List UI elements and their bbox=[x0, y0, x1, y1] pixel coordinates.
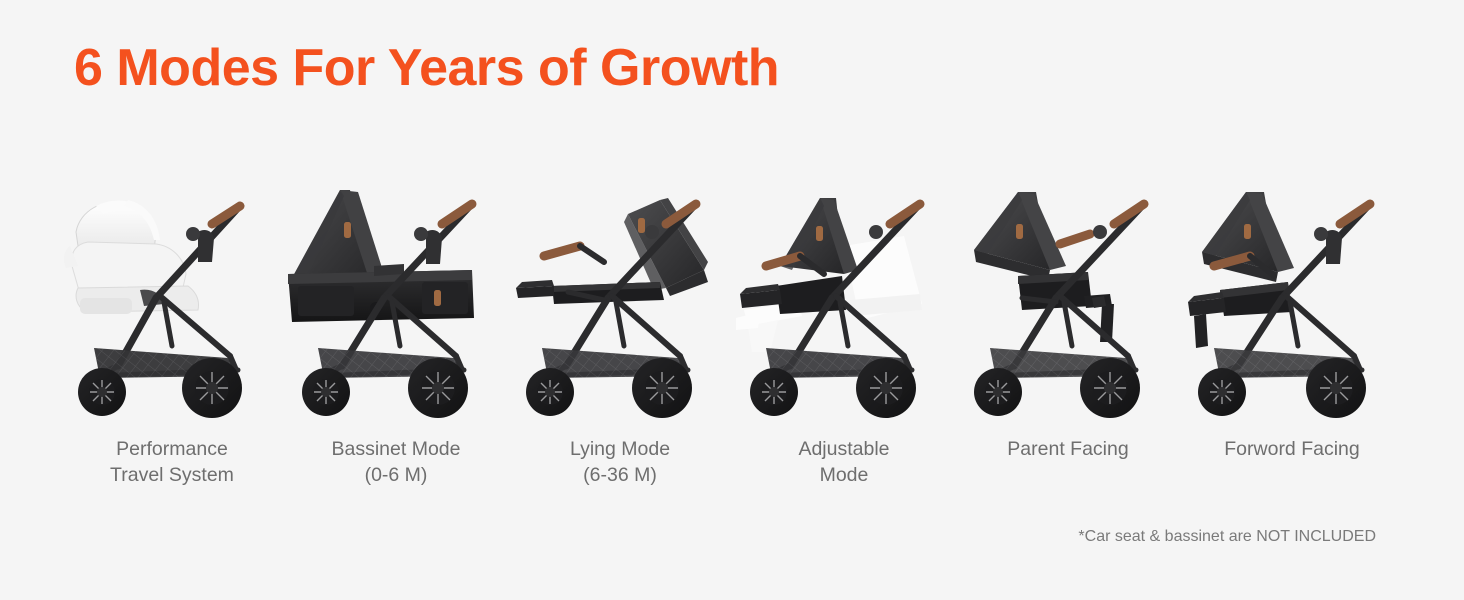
mode-item-3[interactable]: Lying Mode (6-36 M) bbox=[508, 170, 732, 510]
canopy bbox=[974, 192, 1066, 280]
front-wheel bbox=[302, 368, 350, 416]
infant-car-seat-shape bbox=[64, 200, 199, 314]
stroller-illustration-forward-facing bbox=[1180, 170, 1404, 422]
leather-tab bbox=[1016, 224, 1023, 239]
leather-tab bbox=[1244, 224, 1251, 239]
rear-wheel bbox=[182, 358, 242, 418]
leather-tab bbox=[638, 218, 645, 233]
mode-label-4: Adjustable Mode bbox=[798, 436, 889, 488]
front-wheel bbox=[526, 368, 574, 416]
frame-hinge bbox=[645, 225, 659, 239]
rear-wheel bbox=[856, 358, 916, 418]
front-wheel bbox=[974, 368, 1022, 416]
stroller-illustration-travel-system bbox=[60, 170, 284, 422]
frame-hinge bbox=[1093, 225, 1107, 239]
mode-item-1[interactable]: Performance Travel System bbox=[60, 170, 284, 510]
mode-item-6[interactable]: Forword Facing bbox=[1180, 170, 1404, 510]
leather-tab bbox=[816, 226, 823, 241]
lying-seat bbox=[516, 280, 664, 304]
rear-wheel bbox=[1306, 358, 1366, 418]
mode-label-3: Lying Mode (6-36 M) bbox=[570, 436, 670, 488]
frame-hinge bbox=[869, 225, 883, 239]
rear-wheel bbox=[632, 358, 692, 418]
mode-item-2[interactable]: Bassinet Mode (0-6 M) bbox=[284, 170, 508, 510]
front-wheel bbox=[750, 368, 798, 416]
canopy bbox=[624, 198, 708, 296]
front-wheel bbox=[1198, 368, 1246, 416]
mode-label-6: Forword Facing bbox=[1224, 436, 1359, 462]
mode-label-1: Performance Travel System bbox=[110, 436, 234, 488]
seat bbox=[1188, 282, 1292, 348]
rear-wheel bbox=[408, 358, 468, 418]
stroller-illustration-parent-facing bbox=[956, 170, 1180, 422]
rear-wheel bbox=[1080, 358, 1140, 418]
mode-label-5: Parent Facing bbox=[1007, 436, 1128, 462]
modes-row: Performance Travel System bbox=[60, 170, 1404, 510]
stroller-illustration-lying bbox=[508, 170, 732, 422]
stroller-illustration-bassinet bbox=[284, 170, 508, 422]
mode-item-4[interactable]: Adjustable Mode bbox=[732, 170, 956, 510]
bumper-bar bbox=[544, 246, 580, 256]
front-wheel bbox=[78, 368, 126, 416]
footnote-disclaimer: *Car seat & bassinet are NOT INCLUDED bbox=[1078, 528, 1376, 546]
stroller-illustration-adjustable bbox=[732, 170, 956, 422]
bassinet-hood bbox=[292, 190, 384, 280]
stroller-modes-infographic: 6 Modes For Years of Growth bbox=[0, 0, 1464, 600]
mode-label-2: Bassinet Mode (0-6 M) bbox=[332, 436, 461, 488]
page-title: 6 Modes For Years of Growth bbox=[74, 42, 779, 94]
mode-item-5[interactable]: Parent Facing bbox=[956, 170, 1180, 510]
bumper-bar bbox=[1060, 234, 1090, 244]
leather-tab bbox=[344, 222, 351, 238]
